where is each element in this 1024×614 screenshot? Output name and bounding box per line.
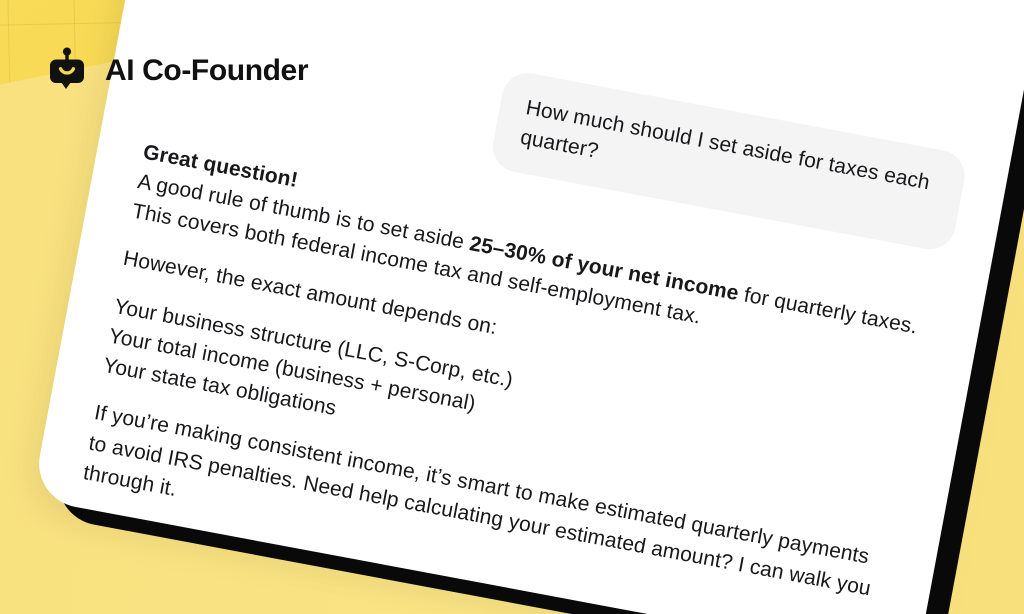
brand-name: AI Co-Founder <box>105 54 308 88</box>
screenshot-root: How much should I set aside for taxes ea… <box>0 0 1024 614</box>
brand-logo[interactable]: AI Co-Founder <box>44 47 308 95</box>
robot-chat-bubble-icon <box>44 47 90 95</box>
